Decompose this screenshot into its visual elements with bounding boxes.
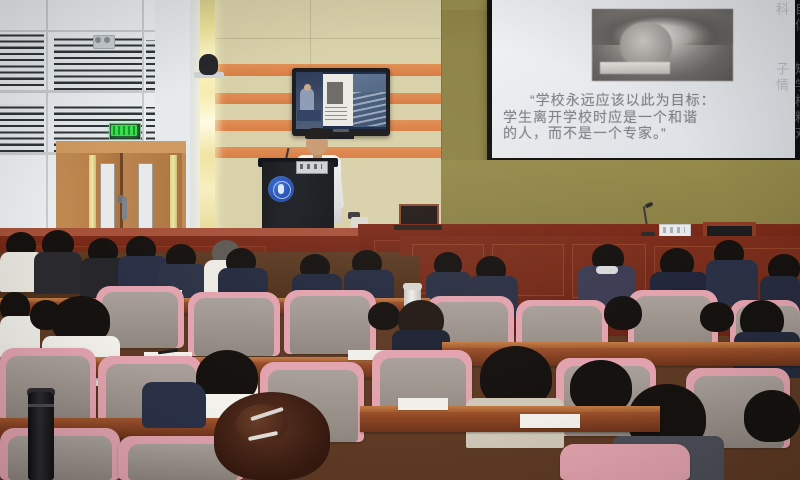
handout-paper (520, 414, 580, 428)
door-handle[interactable] (122, 197, 127, 220)
perforated-panel (0, 104, 44, 152)
university-crest-mark (278, 184, 284, 194)
lecture-hall-photo: “学校永远应该以此为目标： 学生离开学校时应是一个和谐 的人，而不是一个专家。”… (0, 0, 800, 480)
slide-quote-line-3: 的人，而不是一个专家。” (503, 123, 667, 143)
seat-cushion (290, 296, 370, 354)
seat-back (560, 444, 690, 480)
presenter-hair (305, 128, 329, 139)
audience-head (744, 390, 800, 442)
wall-fixture-lamp (95, 37, 101, 43)
audience-torso (34, 252, 82, 294)
audience-head (368, 302, 400, 330)
draped-jacket (142, 382, 206, 428)
security-camera-icon (199, 54, 218, 75)
tv-feed-portrait (327, 82, 343, 104)
audience-desk-row (360, 410, 660, 432)
seat-cushion (194, 298, 274, 356)
door-header (56, 141, 186, 153)
slide-side-text-bottom: 短学校料对子情 (772, 62, 800, 150)
seat-cushion (8, 436, 112, 480)
exit-sign-glyph-icon (113, 126, 135, 135)
slide-side-text-top: 自信科 (772, 2, 800, 48)
vertical-light-strip (200, 0, 215, 236)
presenter-laptop-base (394, 225, 442, 230)
vacuum-flask-lid (403, 283, 422, 290)
tv-feed-person-head (304, 84, 311, 91)
tv-mount (328, 136, 354, 139)
lectern-nameplate-text (300, 164, 322, 169)
wall-seam (215, 38, 441, 39)
tv-feed-slide-text (325, 106, 347, 120)
vacuum-flask-band (28, 404, 54, 407)
door-window (100, 163, 115, 238)
wall-fixture-lamp (104, 37, 110, 43)
name-card-text (663, 227, 685, 233)
tv-feed-audience-rows (353, 92, 386, 126)
perforated-panel (0, 34, 44, 86)
audience-desk-edge (442, 342, 800, 348)
handout-paper (398, 398, 448, 410)
shirt-collar (596, 266, 618, 274)
tv-feed-lectern (297, 110, 321, 121)
audience-head (604, 296, 642, 330)
door-window (138, 163, 153, 238)
slide-portrait-collar (600, 62, 670, 74)
panel-seam (46, 0, 48, 232)
audience-head (700, 302, 734, 332)
tv-brand-logo (333, 129, 349, 132)
